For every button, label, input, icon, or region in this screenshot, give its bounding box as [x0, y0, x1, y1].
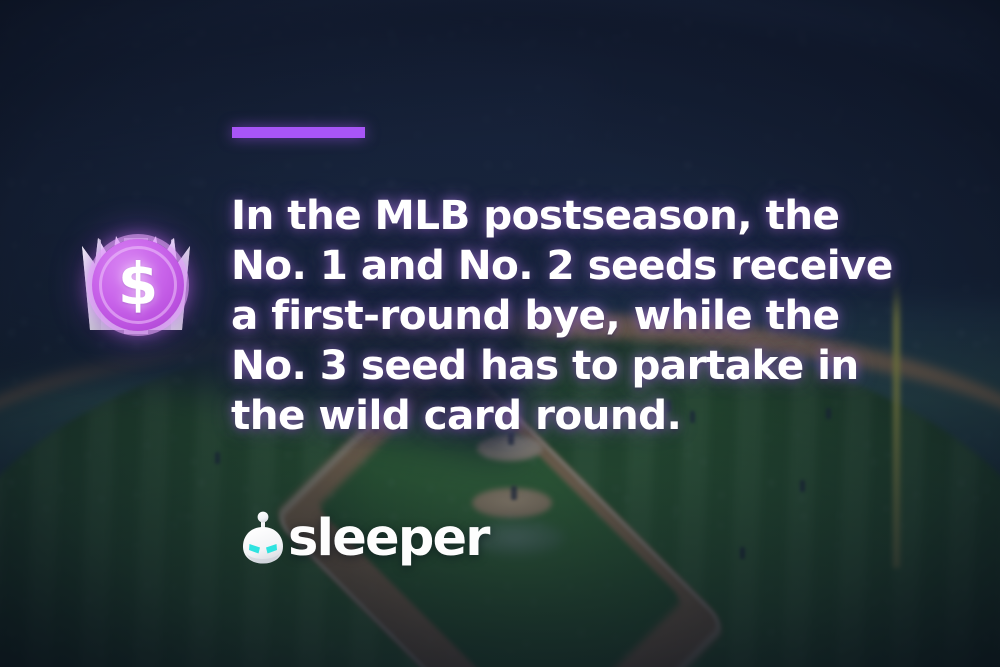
- promo-card: In the MLB postseason, the No. 1 and No.…: [0, 0, 1000, 667]
- dollar-coin-award-badge: $: [68, 222, 204, 350]
- sleeper-logo[interactable]: sleeper: [240, 509, 489, 567]
- headline-text: In the MLB postseason, the No. 1 and No.…: [231, 190, 911, 440]
- sleeper-mascot-icon: [240, 511, 286, 565]
- dollar-sign-glyph: $: [118, 255, 158, 313]
- sleeper-wordmark: sleeper: [288, 513, 489, 564]
- dollar-coin-icon: $: [92, 239, 184, 331]
- accent-rule: [232, 127, 365, 138]
